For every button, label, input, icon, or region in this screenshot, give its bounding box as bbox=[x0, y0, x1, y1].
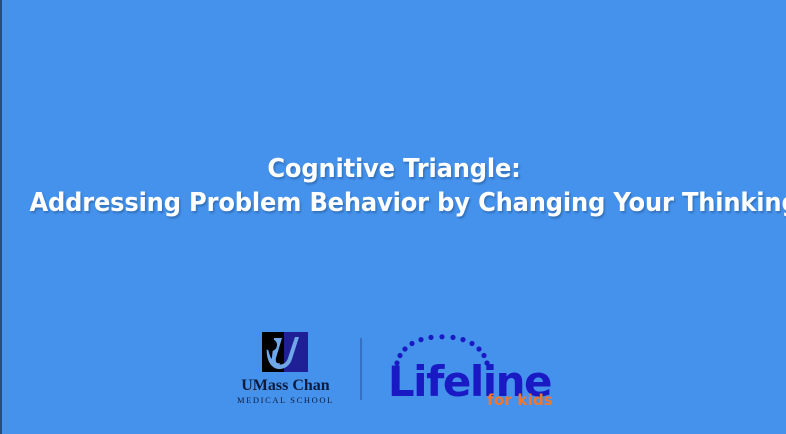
title-line-1: Cognitive Triangle: bbox=[29, 152, 758, 186]
title-line-2: Addressing Problem Behavior by Changing … bbox=[29, 186, 758, 220]
monogram-u-letter-icon bbox=[262, 332, 308, 372]
lifeline-logo: Lifeline for kids bbox=[362, 334, 551, 404]
presentation-slide: Cognitive Triangle: Addressing Problem B… bbox=[0, 0, 786, 434]
umass-wordmark: UMass Chan bbox=[241, 377, 329, 394]
lifeline-tagline: for kids bbox=[487, 392, 553, 408]
slide-title: Cognitive Triangle: Addressing Problem B… bbox=[2, 152, 786, 220]
umass-subwordmark: MEDICAL SCHOOL bbox=[237, 395, 334, 406]
umass-chan-logo: UMass Chan MEDICAL SCHOOL bbox=[237, 332, 360, 406]
umass-chan-monogram-icon bbox=[262, 332, 308, 372]
logo-lockup: UMass Chan MEDICAL SCHOOL bbox=[2, 332, 786, 406]
